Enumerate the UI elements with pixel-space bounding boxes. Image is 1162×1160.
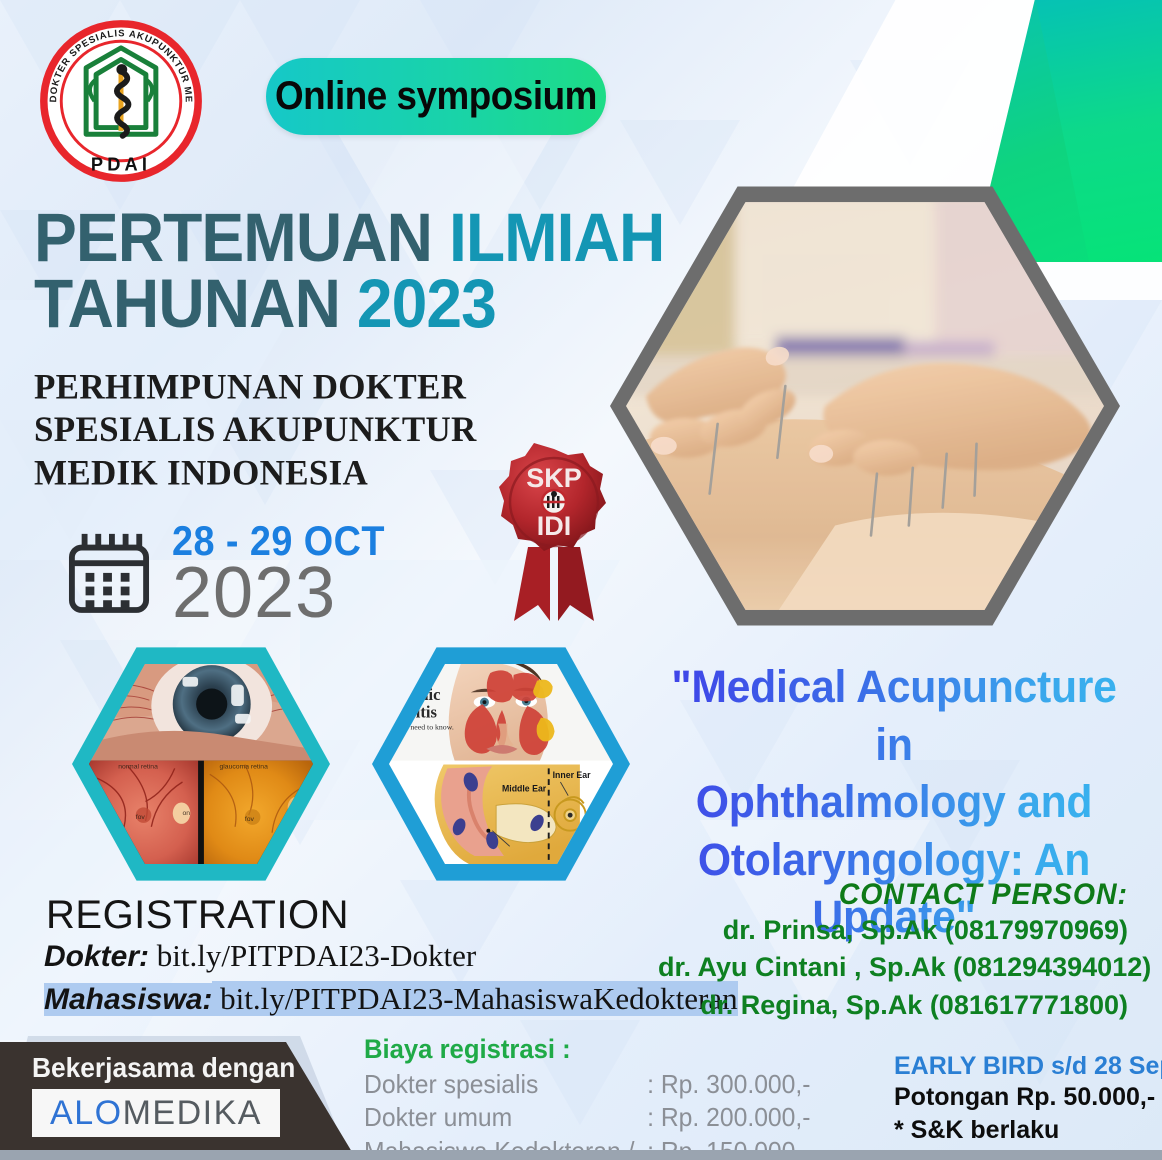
contact-heading: CONTACT PERSON: <box>682 878 1129 912</box>
calendar-icon <box>68 524 150 614</box>
pdai-logo: PERHIMPUNAN DOKTER SPESIALIS AKUPUNKTUR … <box>38 18 204 184</box>
theme-line-1: "Medical Acupuncture in <box>653 658 1136 773</box>
headline-line-1: PERTEMUAN ILMIAH <box>34 205 592 271</box>
alomedika-logo: ALOMEDIKA <box>32 1089 280 1137</box>
svg-text:Middle Ear: Middle Ear <box>502 784 547 794</box>
alomedika-logo-alo: ALO <box>50 1094 123 1132</box>
svg-text:SKP: SKP <box>526 463 582 493</box>
svg-text:glaucoma retina: glaucoma retina <box>220 763 269 770</box>
footer-strip <box>0 1150 1162 1160</box>
fee-name-spesialis: Dokter spesialis <box>364 1068 647 1101</box>
registration-link-dokter[interactable]: bit.ly/PITPDAI23-Dokter <box>149 938 476 973</box>
fee-price-spesialis: : Rp. 300.000,- <box>647 1068 810 1101</box>
subtitle-line-1: PERHIMPUNAN DOKTER <box>34 365 594 408</box>
svg-text:fov: fov <box>245 816 255 823</box>
theme-line-2: Ophthalmology and <box>653 773 1136 831</box>
partner-label: Bekerjasama dengan <box>32 1052 295 1084</box>
early-bird-heading: EARLY BIRD s/d 28 Sept: <box>894 1052 1156 1081</box>
fee-price-umum: : Rp. 200.000,- <box>647 1101 810 1134</box>
poster-root: PERHIMPUNAN DOKTER SPESIALIS AKUPUNKTUR … <box>0 0 1162 1160</box>
online-symposium-label: Online symposium <box>275 74 597 119</box>
fee-row-spesialis: Dokter spesialis : Rp. 300.000,- <box>364 1068 811 1101</box>
contact-person-1: dr. Prinsa, Sp.Ak (08179970969) <box>658 912 1128 949</box>
svg-text:IDI: IDI <box>537 511 572 541</box>
svg-text:Inner Ear: Inner Ear <box>553 770 592 780</box>
registration-row-mahasiswa[interactable]: Mahasiswa: bit.ly/PITPDAI23-MahasiswaKed… <box>44 981 738 1017</box>
skp-idi-seal: SKP IDI <box>492 443 616 633</box>
fee-row-umum: Dokter umum : Rp. 200.000,- <box>364 1101 811 1134</box>
contact-section: CONTACT PERSON: dr. Prinsa, Sp.Ak (08179… <box>658 878 1128 1024</box>
alomedika-logo-medika: MEDIKA <box>123 1094 262 1132</box>
svg-text:fov: fov <box>136 814 146 821</box>
hex-acupuncture-photo <box>610 182 1120 630</box>
svg-text:PDAI: PDAI <box>91 154 151 175</box>
registration-row-dokter[interactable]: Dokter: bit.ly/PITPDAI23-Dokter <box>44 938 476 974</box>
headline-line-2: TAHUNAN 2023 <box>34 271 592 337</box>
event-year: 2023 <box>172 552 336 634</box>
early-bird-section: EARLY BIRD s/d 28 Sept: Potongan Rp. 50.… <box>894 1052 1156 1146</box>
headline-tahunan: TAHUNAN <box>34 265 357 342</box>
contact-person-3: dr. Regina, Sp.Ak (081617771800) <box>658 987 1128 1024</box>
registration-heading: REGISTRATION <box>46 893 349 938</box>
fees-section: Biaya registrasi : Dokter spesialis : Rp… <box>364 1034 834 1160</box>
svg-text:normal retina: normal retina <box>118 763 158 770</box>
hex-otolaryngology-photo: hronic nusitis you need to know. <box>372 645 630 883</box>
headline-year: 2023 <box>357 265 496 342</box>
registration-label-mahasiswa: Mahasiswa: <box>44 983 212 1016</box>
page-title: PERTEMUAN ILMIAH TAHUNAN 2023 <box>34 205 634 337</box>
contact-person-2: dr. Ayu Cintani , Sp.Ak (081294394012) <box>658 949 1128 986</box>
early-bird-discount: Potongan Rp. 50.000,- <box>894 1081 1156 1114</box>
online-symposium-badge: Online symposium <box>266 58 606 135</box>
early-bird-terms: * S&K berlaku <box>894 1114 1156 1147</box>
registration-label-dokter: Dokter: <box>44 940 149 973</box>
hex-ophthalmology-photo: normal retina glaucoma retina fov fov on… <box>72 645 330 883</box>
fees-heading: Biaya registrasi : <box>364 1034 811 1065</box>
svg-text:on: on <box>182 810 190 817</box>
fee-name-umum: Dokter umum <box>364 1101 647 1134</box>
